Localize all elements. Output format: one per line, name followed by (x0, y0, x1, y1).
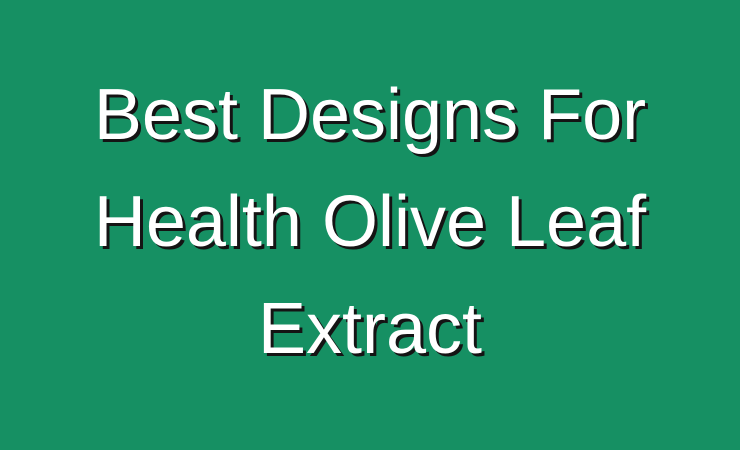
banner-content: Best Designs For Health Olive Leaf Extra… (70, 62, 670, 383)
featured-image-banner: Best Designs For Health Olive Leaf Extra… (0, 0, 740, 450)
page-title-line-2: Health Olive Leaf (70, 169, 670, 276)
page-title-line-1: Best Designs For (70, 62, 670, 169)
page-title-line-3: Extract (70, 276, 670, 383)
page-title: Best Designs For Health Olive Leaf Extra… (70, 62, 670, 383)
